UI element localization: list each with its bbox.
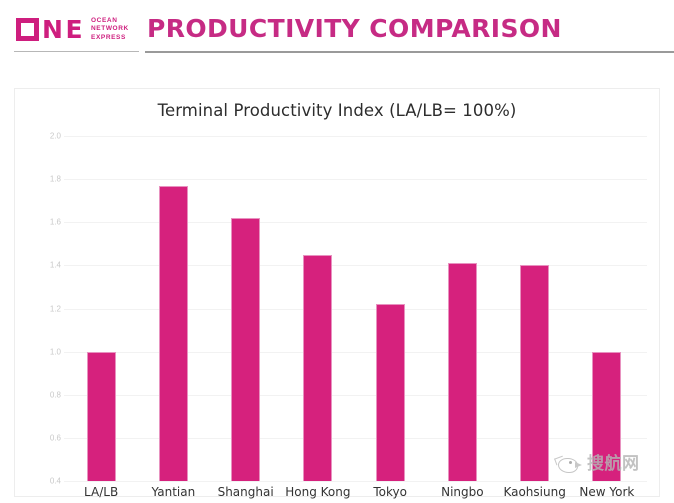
x-tick-label: New York — [579, 485, 634, 499]
logo-letter-e: E — [65, 18, 82, 41]
chart-panel: Terminal Productivity Index (LA/LB= 100%… — [14, 88, 660, 497]
x-tick-label: Hong Kong — [285, 485, 350, 499]
logo-divider — [14, 51, 139, 52]
y-tick-label: 2.0 — [50, 132, 61, 141]
x-tick-label: Tokyo — [373, 485, 407, 499]
y-tick-label: 1.6 — [50, 218, 61, 227]
x-tick-label: Yantian — [152, 485, 196, 499]
bar — [592, 352, 621, 481]
bar — [159, 186, 188, 481]
y-tick-label: 0.8 — [50, 390, 61, 399]
logo-sub-line-1: OCEAN — [91, 17, 129, 25]
bar — [87, 352, 116, 481]
plot-area: 2.01.81.61.41.21.00.80.60.4 LA/LBYantian… — [69, 136, 647, 481]
x-tick-label: Kaohsiung — [503, 485, 565, 499]
bar — [231, 218, 260, 481]
bar — [376, 304, 405, 481]
y-tick-label: 0.4 — [50, 477, 61, 486]
logo-letter-n: N — [42, 18, 62, 41]
x-tick-label: Ningbo — [441, 485, 484, 499]
y-tick-label: 1.4 — [50, 261, 61, 270]
bar — [448, 263, 477, 481]
y-tick-label: 0.6 — [50, 433, 61, 442]
bar — [520, 265, 549, 481]
logo-sub-line-2: NETWORK — [91, 25, 129, 33]
y-tick-label: 1.8 — [50, 175, 61, 184]
page-header: N E OCEAN NETWORK EXPRESS PRODUCTIVITY C… — [0, 0, 674, 68]
x-tick-label: Shanghai — [218, 485, 274, 499]
one-logo: N E OCEAN NETWORK EXPRESS — [16, 12, 140, 46]
y-tick-label: 1.0 — [50, 347, 61, 356]
chart-title: Terminal Productivity Index (LA/LB= 100%… — [15, 101, 659, 120]
square-glyph-icon — [16, 18, 39, 41]
gridline — [64, 481, 647, 482]
title-divider — [145, 51, 674, 53]
page-title: PRODUCTIVITY COMPARISON — [147, 14, 562, 43]
bar-series — [69, 136, 647, 481]
y-tick-label: 1.2 — [50, 304, 61, 313]
one-logo-subtitle: OCEAN NETWORK EXPRESS — [91, 17, 129, 42]
one-logo-marks: N E — [16, 18, 82, 41]
logo-sub-line-3: EXPRESS — [91, 34, 129, 42]
bar — [303, 255, 332, 481]
x-tick-label: LA/LB — [84, 485, 118, 499]
